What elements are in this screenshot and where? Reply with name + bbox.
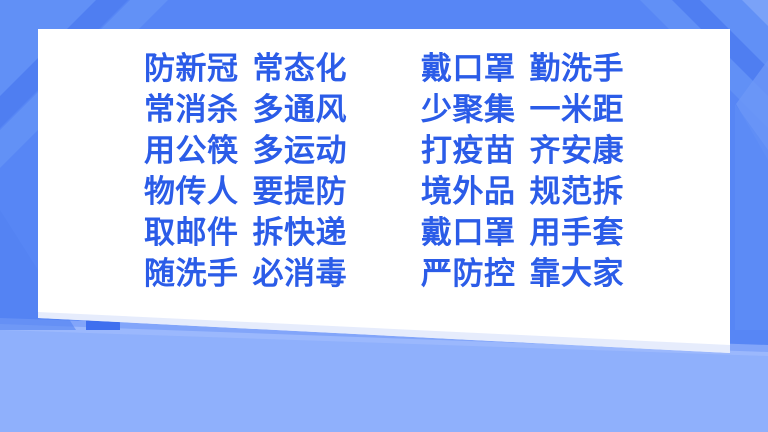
slogan-phrase: 用公筷 [144, 132, 239, 170]
slogan-row: 常消杀 多通风 [144, 91, 347, 129]
slogan-row: 戴口罩 用手套 [421, 214, 624, 252]
slogan-phrase: 戴口罩 [421, 214, 516, 252]
slogan-phrase: 随洗手 [144, 255, 239, 293]
slogan-phrase: 严防控 [421, 255, 516, 293]
slogan-phrase: 用手套 [530, 214, 625, 252]
slogan-column-right: 戴口罩 勤洗手 少聚集 一米距 打疫苗 齐安康 境外品 规范拆 戴口罩 用手套 … [421, 50, 624, 293]
slogan-phrase: 多通风 [253, 91, 348, 129]
slogan-phrase: 齐安康 [530, 132, 625, 170]
slogan-phrase: 勤洗手 [530, 50, 625, 88]
slogan-phrase: 多运动 [253, 132, 348, 170]
slogan-phrase: 必消毒 [253, 255, 348, 293]
slogan-phrase: 拆快递 [253, 214, 348, 252]
slogan-row: 少聚集 一米距 [421, 91, 624, 129]
slogan-column-left: 防新冠 常态化 常消杀 多通风 用公筷 多运动 物传人 要提防 取邮件 拆快递 … [144, 50, 347, 293]
slogan-phrase: 取邮件 [144, 214, 239, 252]
slogan-phrase: 一米距 [530, 91, 625, 129]
slogan-row: 境外品 规范拆 [421, 173, 624, 211]
slogan-phrase: 少聚集 [421, 91, 516, 129]
slogan-phrase: 打疫苗 [421, 132, 516, 170]
slogan-phrase: 靠大家 [530, 255, 625, 293]
slogan-row: 物传人 要提防 [144, 173, 347, 211]
slogan-row: 打疫苗 齐安康 [421, 132, 624, 170]
slogan-phrase: 戴口罩 [421, 50, 516, 88]
slogan-phrase: 境外品 [421, 173, 516, 211]
slogan-row: 严防控 靠大家 [421, 255, 624, 293]
slogan-phrase: 规范拆 [530, 173, 625, 211]
slogan-phrase: 物传人 [144, 173, 239, 211]
slogan-columns: 防新冠 常态化 常消杀 多通风 用公筷 多运动 物传人 要提防 取邮件 拆快递 … [144, 50, 624, 293]
slogan-row: 取邮件 拆快递 [144, 214, 347, 252]
slogan-phrase: 常态化 [253, 50, 348, 88]
slogan-row: 随洗手 必消毒 [144, 255, 347, 293]
slogan-row: 防新冠 常态化 [144, 50, 347, 88]
slogan-row: 戴口罩 勤洗手 [421, 50, 624, 88]
slogan-board: 防新冠 常态化 常消杀 多通风 用公筷 多运动 物传人 要提防 取邮件 拆快递 … [38, 29, 730, 318]
slogan-phrase: 要提防 [253, 173, 348, 211]
slogan-phrase: 常消杀 [144, 91, 239, 129]
slogan-phrase: 防新冠 [144, 50, 239, 88]
slogan-row: 用公筷 多运动 [144, 132, 347, 170]
